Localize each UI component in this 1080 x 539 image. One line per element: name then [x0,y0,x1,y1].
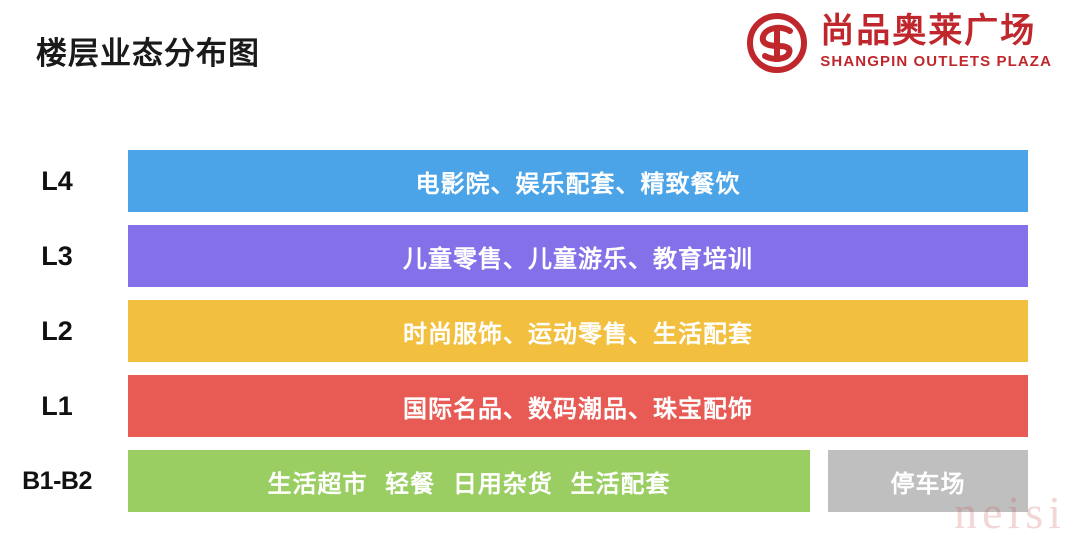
floor-row-l3: L3 儿童零售、儿童游乐、教育培训 [0,225,1080,287]
floor-bar-l2[interactable]: 时尚服饰、运动零售、生活配套 [128,300,1028,362]
shangpin-s-monogram-icon [746,12,808,74]
brand-logo: 尚品奥莱广场 SHANGPIN OUTLETS PLAZA [746,12,1052,74]
brand-name-en: SHANGPIN OUTLETS PLAZA [820,52,1052,72]
floor-bar-label-l1: 国际名品、数码潮品、珠宝配饰 [403,389,753,424]
floor-bar-label-parking: 停车场 [891,464,966,499]
floor-bar-l4[interactable]: 电影院、娱乐配套、精致餐饮 [128,150,1028,212]
page-title: 楼层业态分布图 [36,28,260,73]
floor-bar-label-l4: 电影院、娱乐配套、精致餐饮 [416,164,741,199]
floor-row-l1: L1 国际名品、数码潮品、珠宝配饰 [0,375,1080,437]
floor-bar-label-l2: 时尚服饰、运动零售、生活配套 [403,314,753,349]
page-header: 楼层业态分布图 尚品奥莱广场 SHANGPIN OUTLETS PLAZA [0,0,1080,100]
floor-bar-b1-b2-parking[interactable]: 停车场 [828,450,1028,512]
floor-label-l2: L2 [0,316,128,347]
floor-bar-l1[interactable]: 国际名品、数码潮品、珠宝配饰 [128,375,1028,437]
floor-bars-l1: 国际名品、数码潮品、珠宝配饰 [128,375,1080,437]
floor-bar-label-b1-b2-retail: 生活超市 轻餐 日用杂货 生活配套 [267,464,670,499]
floor-label-b1-b2: B1-B2 [0,467,128,496]
brand-text: 尚品奥莱广场 SHANGPIN OUTLETS PLAZA [820,14,1052,71]
floor-row-l4: L4 电影院、娱乐配套、精致餐饮 [0,150,1080,212]
floor-row-b1-b2: B1-B2 生活超市 轻餐 日用杂货 生活配套 停车场 [0,450,1080,512]
floor-bar-label-l3: 儿童零售、儿童游乐、教育培训 [403,239,753,274]
floor-distribution-chart: L4 电影院、娱乐配套、精致餐饮 L3 儿童零售、儿童游乐、教育培训 L2 时尚… [0,150,1080,512]
floor-bar-b1-b2-retail[interactable]: 生活超市 轻餐 日用杂货 生活配套 [128,450,810,512]
floor-label-l1: L1 [0,391,128,422]
floor-row-l2: L2 时尚服饰、运动零售、生活配套 [0,300,1080,362]
floor-label-l4: L4 [0,166,128,197]
brand-name-cn: 尚品奥莱广场 [820,14,1036,50]
floor-bars-l2: 时尚服饰、运动零售、生活配套 [128,300,1080,362]
floor-bar-l3[interactable]: 儿童零售、儿童游乐、教育培训 [128,225,1028,287]
floor-bars-l3: 儿童零售、儿童游乐、教育培训 [128,225,1080,287]
floor-bars-l4: 电影院、娱乐配套、精致餐饮 [128,150,1080,212]
floor-label-l3: L3 [0,241,128,272]
floor-bars-b1-b2: 生活超市 轻餐 日用杂货 生活配套 停车场 [128,450,1080,512]
